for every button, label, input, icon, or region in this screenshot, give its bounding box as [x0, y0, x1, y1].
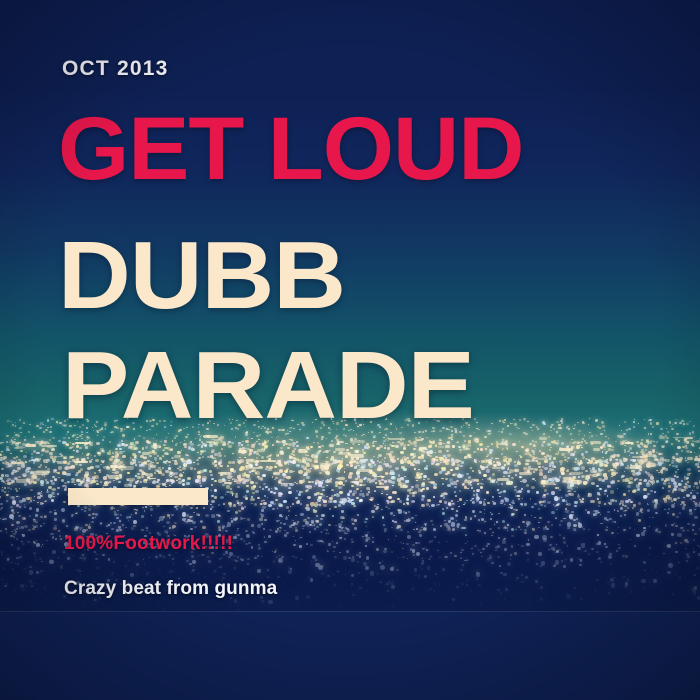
city-light [194, 468, 196, 470]
city-light [16, 490, 19, 492]
city-light [210, 490, 212, 491]
city-light-pinpoint [347, 493, 350, 496]
city-light [355, 478, 358, 480]
city-light-streak [260, 460, 275, 462]
city-light [193, 566, 195, 567]
city-light-pinpoint [540, 586, 544, 590]
city-light [452, 446, 454, 447]
city-light [257, 555, 260, 557]
city-light [491, 535, 493, 537]
city-light [544, 505, 546, 507]
city-light [484, 509, 486, 510]
city-light [623, 529, 625, 531]
city-light [147, 572, 148, 573]
city-light [524, 532, 527, 535]
city-light [454, 486, 457, 488]
city-light [415, 522, 417, 523]
city-light [310, 486, 312, 487]
city-light-streak [659, 436, 665, 440]
city-light [51, 448, 55, 451]
city-light [316, 515, 318, 517]
city-light [50, 480, 53, 482]
city-light [588, 529, 590, 530]
city-light-pinpoint [580, 559, 582, 561]
city-light [284, 462, 287, 465]
city-light [471, 487, 473, 489]
city-light [583, 528, 585, 530]
city-light-streak [687, 457, 693, 461]
city-light [407, 460, 411, 464]
city-light [19, 488, 21, 489]
city-light [46, 459, 50, 462]
city-light-streak [246, 459, 253, 462]
city-light-pinpoint [31, 585, 34, 588]
city-light [402, 548, 404, 549]
city-light [658, 531, 661, 533]
city-light [515, 495, 519, 498]
city-light-pinpoint [414, 568, 418, 572]
city-light [187, 455, 189, 456]
city-light [309, 531, 311, 533]
city-light [255, 471, 260, 475]
city-light [535, 480, 537, 481]
city-light [311, 454, 315, 457]
city-light [283, 523, 286, 525]
city-light [236, 480, 241, 484]
city-light [648, 480, 651, 482]
city-light [466, 584, 468, 586]
city-light [366, 493, 369, 496]
city-light [382, 491, 384, 492]
city-light [533, 453, 535, 455]
city-light [479, 443, 483, 446]
city-light-streak [495, 458, 500, 460]
city-light [379, 482, 382, 485]
city-light [472, 470, 474, 472]
city-light [494, 524, 496, 525]
city-light [78, 470, 81, 473]
city-light-pinpoint [211, 514, 215, 518]
city-light [288, 463, 290, 464]
city-light [685, 548, 687, 550]
city-light [339, 491, 342, 494]
city-light [567, 527, 570, 530]
city-light [461, 549, 464, 551]
city-light [388, 539, 389, 540]
city-light [456, 510, 458, 512]
city-light-pinpoint [365, 545, 367, 547]
city-light [556, 431, 558, 433]
city-light [176, 508, 178, 510]
city-light [496, 521, 498, 523]
city-light [430, 556, 431, 557]
city-light [444, 520, 446, 521]
city-light-pinpoint [36, 508, 40, 512]
city-light [656, 528, 658, 530]
city-light [190, 441, 192, 443]
city-light [245, 530, 248, 532]
city-light [143, 559, 144, 560]
city-light [136, 481, 138, 482]
city-light [359, 587, 362, 589]
city-light [250, 498, 254, 502]
city-light [244, 474, 247, 477]
city-light [433, 528, 436, 531]
city-light [316, 492, 320, 495]
city-light [578, 476, 580, 478]
city-light-streak [320, 463, 331, 467]
city-light-pinpoint [416, 552, 421, 557]
city-light-streak [555, 442, 558, 444]
city-light [407, 531, 410, 533]
city-light [475, 516, 476, 517]
city-light [440, 462, 442, 463]
city-light-pinpoint [527, 599, 529, 601]
city-light [630, 591, 632, 593]
city-light [551, 511, 555, 514]
city-light-streak [527, 468, 534, 470]
city-light [684, 478, 686, 480]
city-light [694, 533, 697, 535]
city-light [606, 451, 608, 452]
city-light-streak [357, 469, 373, 472]
city-light [66, 525, 68, 527]
city-light [18, 515, 20, 517]
city-light [58, 477, 60, 478]
city-light [113, 480, 115, 481]
city-light [244, 573, 246, 574]
city-light [114, 508, 116, 509]
city-light [319, 523, 323, 526]
city-light [121, 440, 123, 442]
city-light [34, 496, 36, 498]
city-light [344, 471, 346, 473]
city-light [470, 445, 472, 446]
city-light [202, 478, 206, 481]
city-light [401, 466, 405, 469]
city-light [624, 451, 626, 453]
city-light [293, 544, 296, 546]
city-light [516, 451, 518, 453]
city-light [492, 473, 495, 476]
city-light [696, 492, 698, 494]
city-light [218, 566, 220, 568]
city-light [653, 445, 655, 447]
city-light [513, 419, 514, 420]
city-light [233, 536, 236, 539]
city-light [193, 462, 195, 463]
city-light [235, 511, 239, 514]
city-light [687, 481, 689, 483]
city-light [258, 544, 260, 546]
city-light-pinpoint [608, 592, 610, 594]
city-light [515, 509, 518, 511]
city-light-pinpoint [610, 578, 614, 582]
city-light [77, 505, 80, 507]
city-light [246, 490, 249, 493]
city-light [1, 579, 3, 580]
city-light [380, 461, 383, 463]
city-light [116, 459, 118, 461]
city-light [520, 529, 522, 531]
city-light [450, 469, 452, 471]
city-light [163, 444, 166, 447]
city-light [624, 445, 626, 446]
city-light [35, 556, 37, 557]
city-light [81, 509, 83, 510]
city-light [382, 516, 385, 518]
city-light [146, 482, 147, 483]
city-light [435, 445, 437, 447]
city-light [108, 524, 110, 526]
city-light [673, 498, 677, 501]
city-light [601, 480, 604, 482]
city-light [255, 463, 258, 466]
city-light [445, 462, 449, 465]
city-light [596, 579, 599, 581]
city-light [356, 497, 359, 499]
city-light [109, 481, 111, 483]
city-light [539, 501, 541, 502]
city-light [577, 495, 581, 498]
city-light-streak [612, 463, 620, 466]
city-light [615, 441, 617, 443]
city-light [334, 556, 337, 559]
city-light [521, 581, 524, 583]
city-light [90, 466, 94, 469]
city-light [434, 583, 436, 584]
city-light [364, 459, 366, 461]
city-light-streak [538, 458, 545, 460]
city-light [22, 543, 25, 546]
city-light [462, 445, 466, 448]
city-light [222, 484, 225, 487]
city-light-pinpoint [189, 563, 192, 566]
city-light [29, 566, 32, 568]
city-light [531, 486, 535, 489]
city-light [1, 551, 3, 553]
city-light [295, 497, 298, 499]
city-light [19, 500, 23, 503]
city-light [686, 423, 689, 425]
city-light [681, 450, 683, 452]
city-light-pinpoint [278, 558, 282, 562]
city-light [186, 482, 189, 485]
city-light [427, 499, 431, 502]
city-light [373, 472, 375, 474]
city-light [51, 492, 55, 495]
city-light [244, 518, 245, 519]
city-light-pinpoint [332, 515, 334, 517]
city-light [685, 577, 686, 578]
city-light [298, 493, 302, 496]
city-light [468, 440, 472, 443]
city-light [14, 439, 15, 440]
city-light [680, 504, 682, 506]
city-light [163, 461, 165, 463]
city-light [404, 520, 406, 522]
city-light [521, 504, 523, 506]
city-light [600, 523, 602, 525]
city-light [437, 550, 439, 551]
city-light [276, 441, 278, 443]
city-light [59, 453, 62, 455]
city-light [634, 479, 636, 481]
city-light [268, 504, 272, 507]
city-light [681, 480, 683, 482]
city-light-pinpoint [268, 600, 273, 605]
city-light [566, 504, 568, 505]
city-light-pinpoint [352, 594, 354, 596]
city-light [298, 470, 303, 474]
city-light-pinpoint [525, 576, 528, 579]
city-light [666, 437, 669, 439]
city-light-pinpoint [187, 519, 190, 522]
city-light [323, 504, 327, 507]
city-light [190, 467, 193, 469]
city-light [17, 467, 21, 470]
city-light [649, 581, 651, 583]
city-light [617, 510, 619, 512]
city-light [193, 512, 195, 513]
city-light [392, 442, 394, 443]
city-light-streak [377, 468, 381, 471]
city-light [171, 483, 173, 484]
city-light [533, 471, 536, 473]
city-light [527, 490, 530, 493]
city-light-streak [329, 444, 334, 447]
city-light [502, 520, 505, 523]
city-light [676, 516, 679, 519]
city-light [134, 456, 136, 458]
city-light [172, 440, 174, 441]
city-light [542, 466, 545, 468]
city-light [663, 553, 665, 554]
city-light [289, 601, 290, 602]
city-light [183, 472, 185, 474]
city-light [696, 486, 699, 489]
city-light [392, 606, 394, 608]
city-light [387, 440, 389, 442]
city-light-streak [257, 449, 265, 452]
city-light [451, 500, 453, 502]
city-light [372, 516, 375, 518]
city-light [412, 588, 414, 590]
city-light [687, 530, 689, 531]
city-light [650, 484, 652, 485]
city-light [439, 557, 441, 559]
city-light [0, 496, 1, 498]
city-light [518, 544, 519, 545]
city-light [258, 443, 261, 445]
city-light [57, 493, 59, 495]
city-light [85, 440, 86, 441]
city-light-streak [419, 447, 426, 450]
city-light [237, 528, 239, 529]
city-light [169, 527, 171, 529]
city-light [231, 442, 234, 444]
city-light [174, 476, 177, 479]
city-light [128, 520, 129, 521]
city-light [10, 421, 12, 423]
city-light [436, 596, 437, 597]
city-light [276, 454, 279, 457]
city-light [210, 474, 213, 476]
city-light [89, 482, 92, 484]
city-light [323, 500, 326, 503]
city-light [403, 543, 405, 544]
city-light [478, 519, 480, 521]
city-light [647, 509, 651, 512]
city-light [536, 603, 537, 604]
city-light [694, 574, 697, 576]
city-light [377, 504, 379, 505]
city-light [25, 461, 27, 463]
city-light [233, 518, 237, 521]
city-light [483, 503, 487, 506]
city-light [634, 529, 636, 531]
city-light [15, 422, 17, 423]
city-light [477, 448, 480, 450]
city-light [521, 545, 524, 547]
city-light-pinpoint [268, 535, 271, 538]
city-light [137, 473, 140, 475]
city-light [656, 470, 658, 471]
city-light [150, 461, 152, 463]
city-light [229, 504, 232, 506]
city-light [244, 457, 246, 459]
city-light [361, 464, 366, 468]
city-light [566, 470, 569, 472]
city-light [511, 513, 515, 516]
city-light [444, 523, 448, 526]
city-light [41, 491, 42, 492]
city-light [418, 469, 420, 470]
city-light [225, 494, 226, 495]
city-light [302, 528, 304, 529]
city-light [565, 510, 569, 513]
city-light [671, 533, 674, 535]
city-light [169, 465, 171, 466]
city-light [292, 520, 294, 522]
city-light [471, 590, 473, 592]
city-light [38, 466, 41, 469]
city-light [14, 447, 17, 449]
city-light [372, 442, 374, 444]
city-light [176, 443, 178, 445]
city-light [596, 485, 599, 488]
city-light [465, 543, 467, 544]
city-light [118, 526, 121, 529]
city-light [293, 536, 295, 537]
city-light [391, 476, 395, 480]
city-light [585, 470, 588, 473]
city-light [156, 440, 157, 441]
city-light [418, 576, 420, 578]
city-light [218, 515, 221, 517]
city-light-pinpoint [1, 507, 3, 509]
city-light-pinpoint [579, 564, 582, 567]
city-light [689, 512, 693, 515]
city-light [433, 496, 435, 498]
city-light-pinpoint [49, 560, 53, 564]
city-light [551, 491, 555, 495]
city-light [413, 501, 415, 502]
city-light [2, 442, 4, 443]
city-light [655, 512, 658, 515]
city-light [215, 458, 216, 459]
city-light [23, 455, 27, 458]
